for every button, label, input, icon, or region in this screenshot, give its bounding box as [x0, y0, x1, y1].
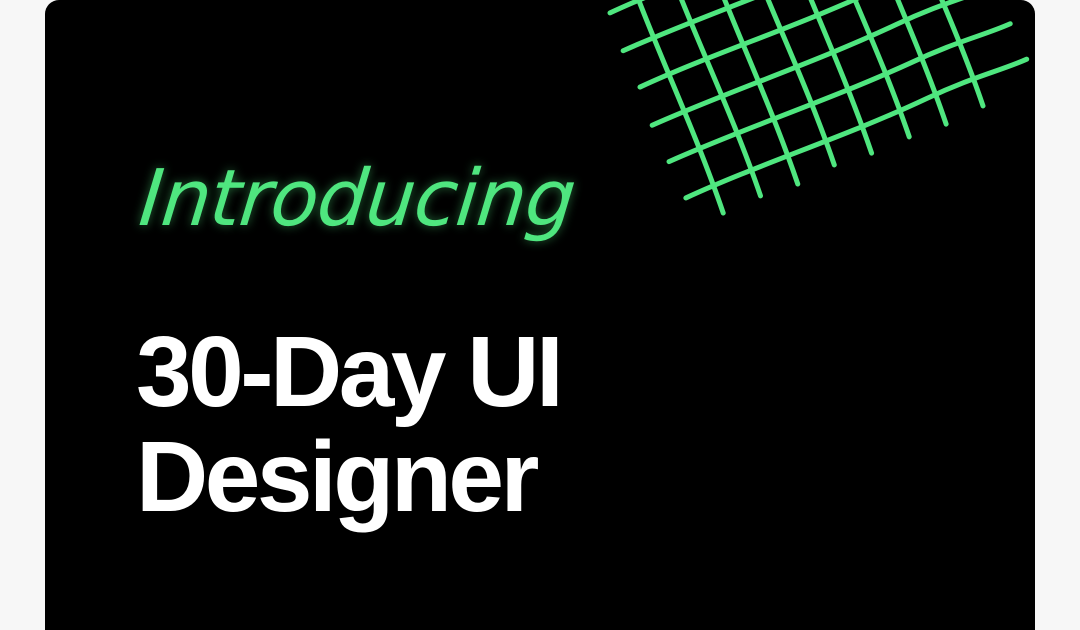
eyebrow-label: Introducing — [136, 160, 578, 238]
headline-line-2: Designer — [136, 425, 560, 530]
headline-line-1: 30-Day UI — [136, 320, 560, 425]
promo-card[interactable]: Introducing 30-Day UI Designer — [45, 0, 1035, 630]
promo-page: Introducing 30-Day UI Designer — [0, 0, 1080, 630]
page-title: 30-Day UI Designer — [136, 320, 560, 530]
crosshatch-grid-decoration — [565, 0, 1035, 180]
